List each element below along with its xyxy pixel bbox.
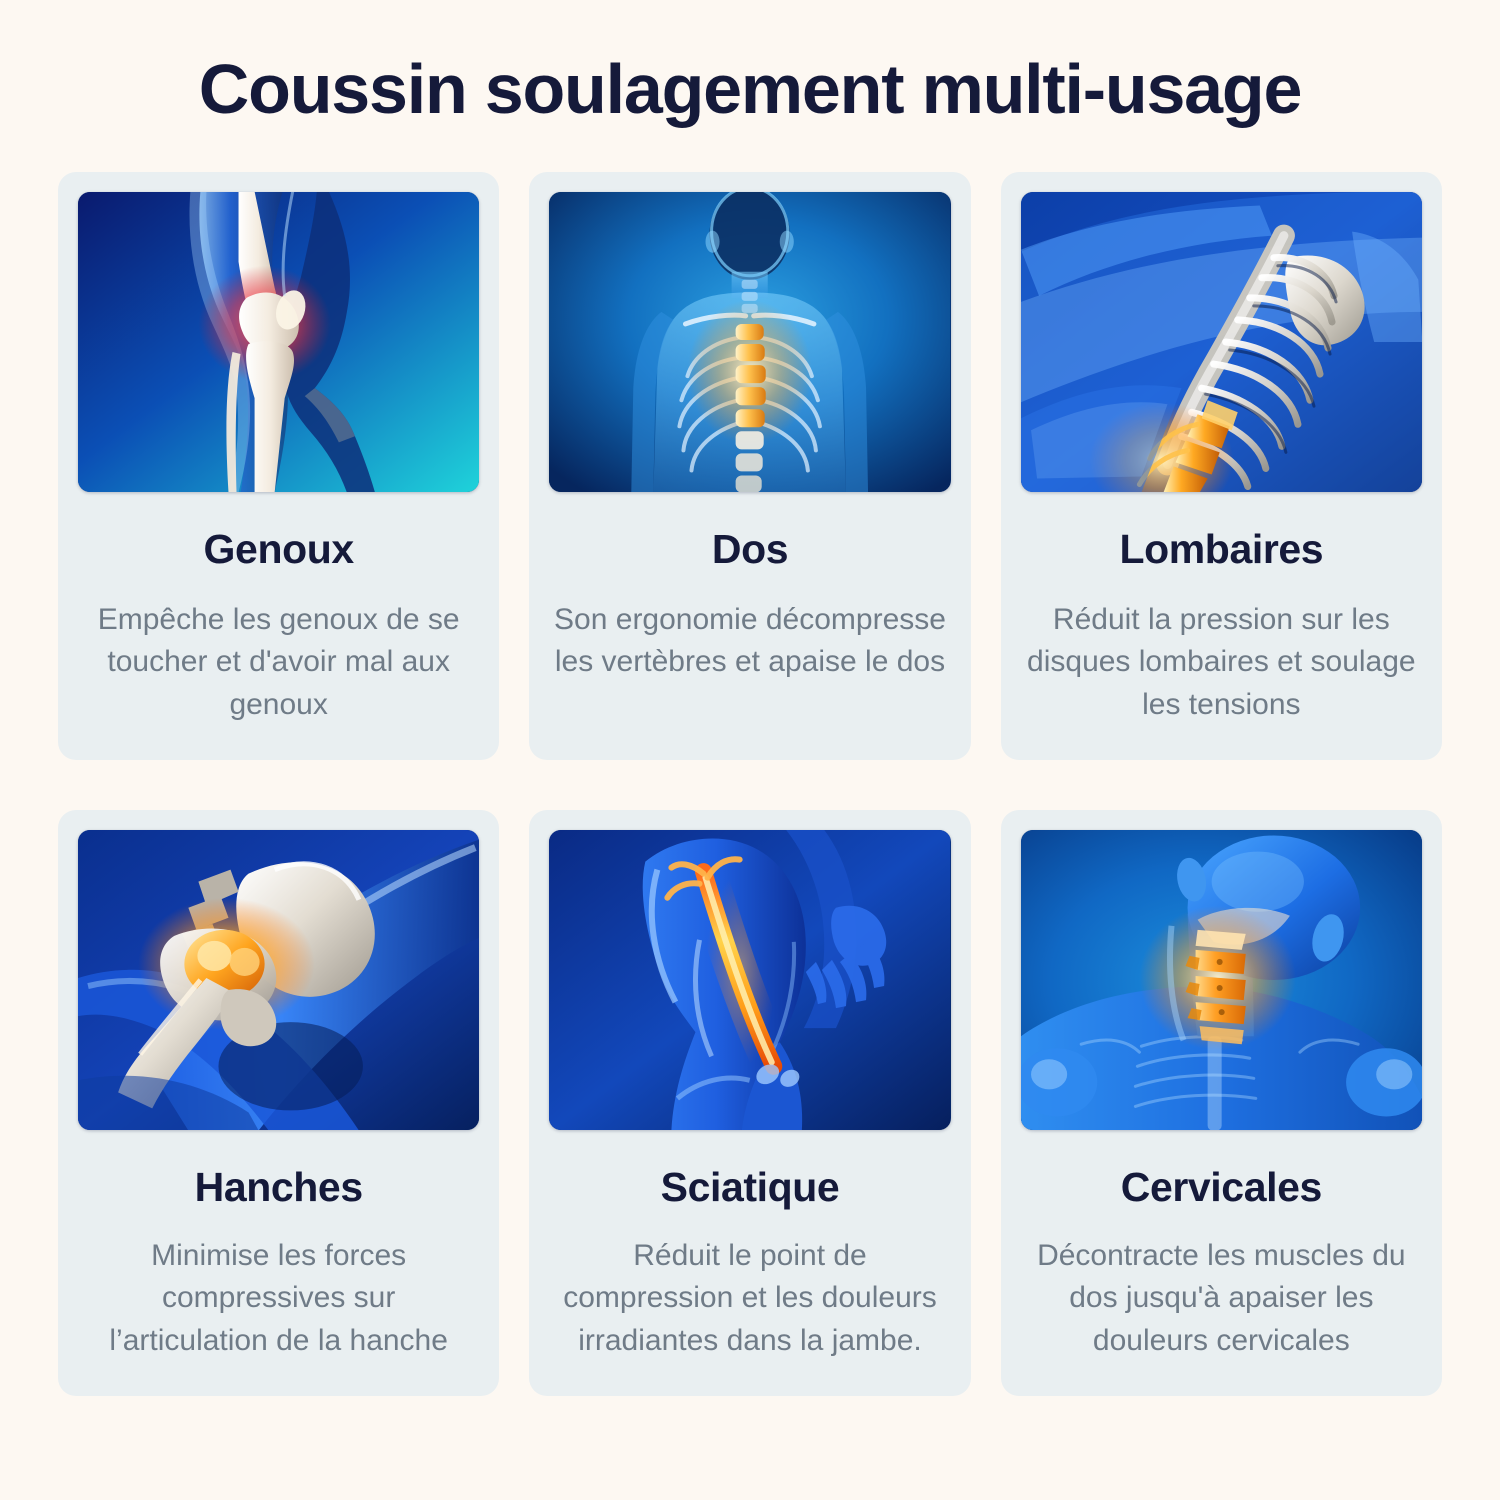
benefit-card-hanches[interactable]: Hanches Minimise les forces compressives… — [58, 810, 499, 1396]
page-title: Coussin soulagement multi-usage — [0, 52, 1500, 128]
benefit-card-title: Dos — [712, 527, 788, 572]
benefit-card-description: Réduit la pression sur les disques lomba… — [1025, 599, 1418, 727]
back-spine-xray-illustration — [549, 192, 950, 492]
benefit-card-title: Sciatique — [661, 1165, 840, 1210]
benefit-card-title: Lombaires — [1119, 527, 1323, 572]
benefit-card-description: Empêche les genoux de se toucher et d'av… — [82, 599, 475, 727]
benefit-card-description: Son ergonomie décompresse les vertèbres … — [553, 599, 946, 684]
benefit-card-sciatique[interactable]: Sciatique Réduit le point de compression… — [529, 810, 970, 1396]
cervical-spine-illustration — [1021, 830, 1422, 1130]
sciatic-nerve-illustration — [549, 830, 950, 1130]
benefit-card-title: Cervicales — [1121, 1165, 1322, 1210]
benefit-card-dos[interactable]: Dos Son ergonomie décompresse les vertèb… — [529, 172, 970, 761]
benefit-card-cervicales[interactable]: Cervicales Décontracte les muscles du do… — [1001, 810, 1442, 1396]
knee-anatomy-illustration — [78, 192, 479, 492]
benefits-grid: Genoux Empêche les genoux de se toucher … — [0, 172, 1500, 1397]
promo-page: Coussin soulagement multi-usage — [0, 0, 1500, 1500]
benefit-card-description: Réduit le point de compression et les do… — [553, 1235, 946, 1363]
hip-joint-illustration — [78, 830, 479, 1130]
benefit-card-lombaires[interactable]: Lombaires Réduit la pression sur les dis… — [1001, 172, 1442, 761]
benefit-card-description: Décontracte les muscles du dos jusqu'à a… — [1025, 1235, 1418, 1363]
benefit-card-description: Minimise les forces compressives sur l’a… — [82, 1235, 475, 1363]
lumbar-spine-ribcage-illustration — [1021, 192, 1422, 492]
benefit-card-genoux[interactable]: Genoux Empêche les genoux de se toucher … — [58, 172, 499, 761]
benefit-card-title: Genoux — [204, 527, 354, 572]
benefit-card-title: Hanches — [195, 1165, 363, 1210]
